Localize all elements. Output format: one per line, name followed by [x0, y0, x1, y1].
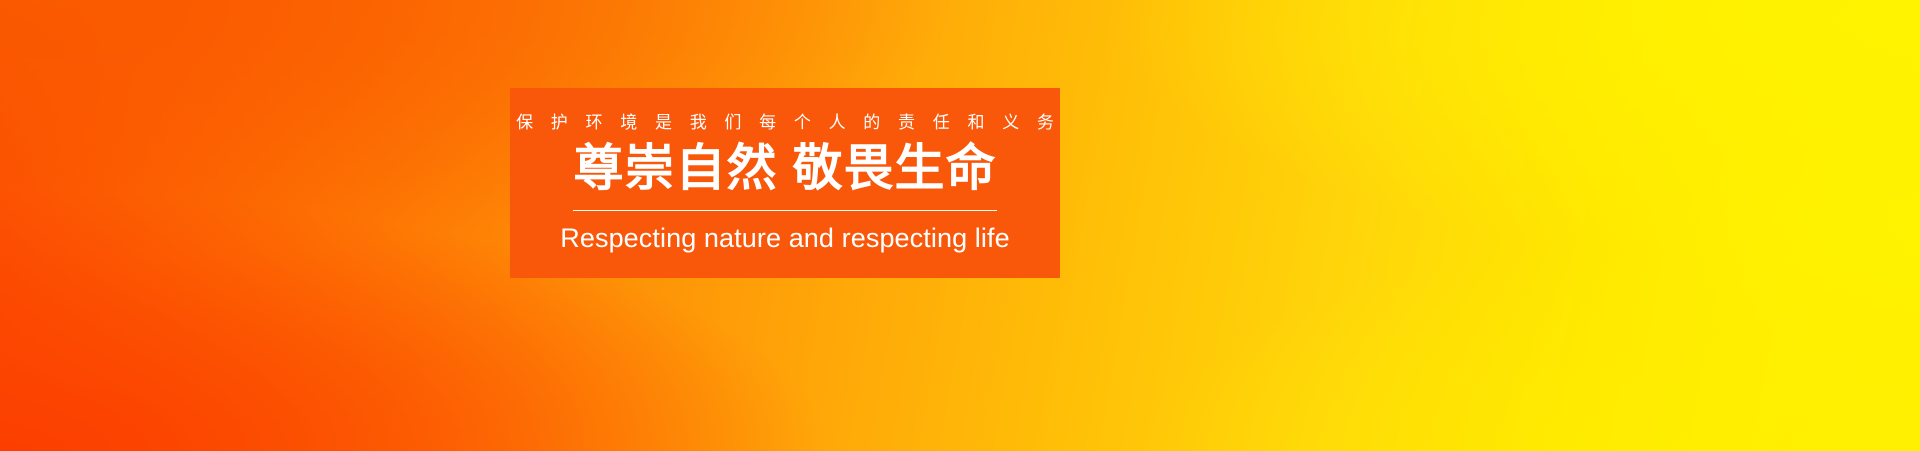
subtitle-text: Respecting nature and respecting life [560, 224, 1009, 252]
divider-rule [573, 210, 997, 211]
slogan-card: 保 护 环 境 是 我 们 每 个 人 的 责 任 和 义 务 尊崇自然 敬畏生… [510, 88, 1060, 278]
kicker-text: 保 护 环 境 是 我 们 每 个 人 的 责 任 和 义 务 [510, 114, 1061, 131]
environment-slogan-banner: 保 护 环 境 是 我 们 每 个 人 的 责 任 和 义 务 尊崇自然 敬畏生… [0, 0, 1920, 451]
headline-text: 尊崇自然 敬畏生命 [574, 143, 997, 194]
